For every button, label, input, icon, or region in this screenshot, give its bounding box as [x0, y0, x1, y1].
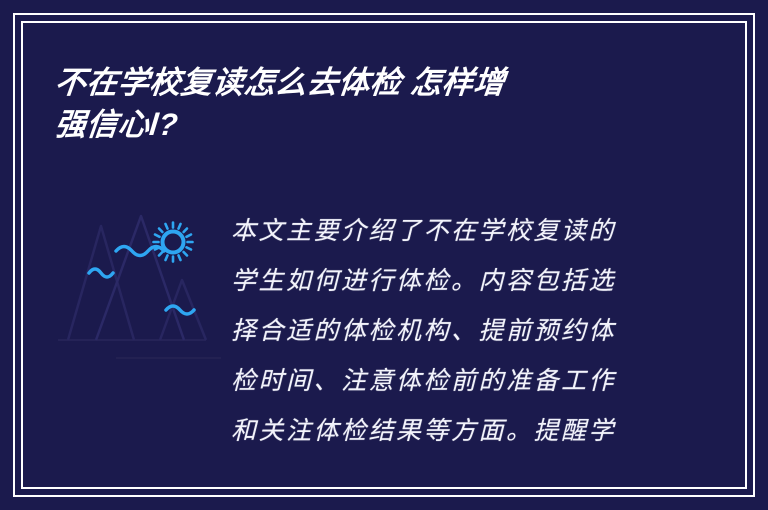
body-line-1: 本文主要介绍了不在学校复读的 — [231, 206, 651, 256]
article-summary-text: 本文主要介绍了不在学校复读的 学生如何进行体检。内容包括选 择合适的体检机构、提… — [231, 206, 651, 481]
body-line-4: 检时间、注意体检前的准备工作 — [231, 356, 651, 406]
article-cover-card: 不在学校复读怎么去体检 怎样增 强信心l? — [0, 0, 768, 510]
mountain-with-sun-illustration — [56, 198, 226, 383]
page-title: 不在学校复读怎么去体检 怎样增 强信心l? — [55, 62, 675, 146]
body-line-3: 择合适的体检机构、提前预约体 — [231, 306, 651, 356]
body-line-5: 和关注体检结果等方面。提醒学 — [231, 406, 651, 456]
title-line-1: 不在学校复读怎么去体检 怎样增 — [53, 62, 677, 104]
sun-icon — [154, 223, 193, 262]
title-line-2: 强信心l? — [53, 104, 677, 146]
left-peak-snow-wave — [89, 269, 113, 277]
body-line-2: 学生如何进行体检。内容包括选 — [231, 256, 651, 306]
